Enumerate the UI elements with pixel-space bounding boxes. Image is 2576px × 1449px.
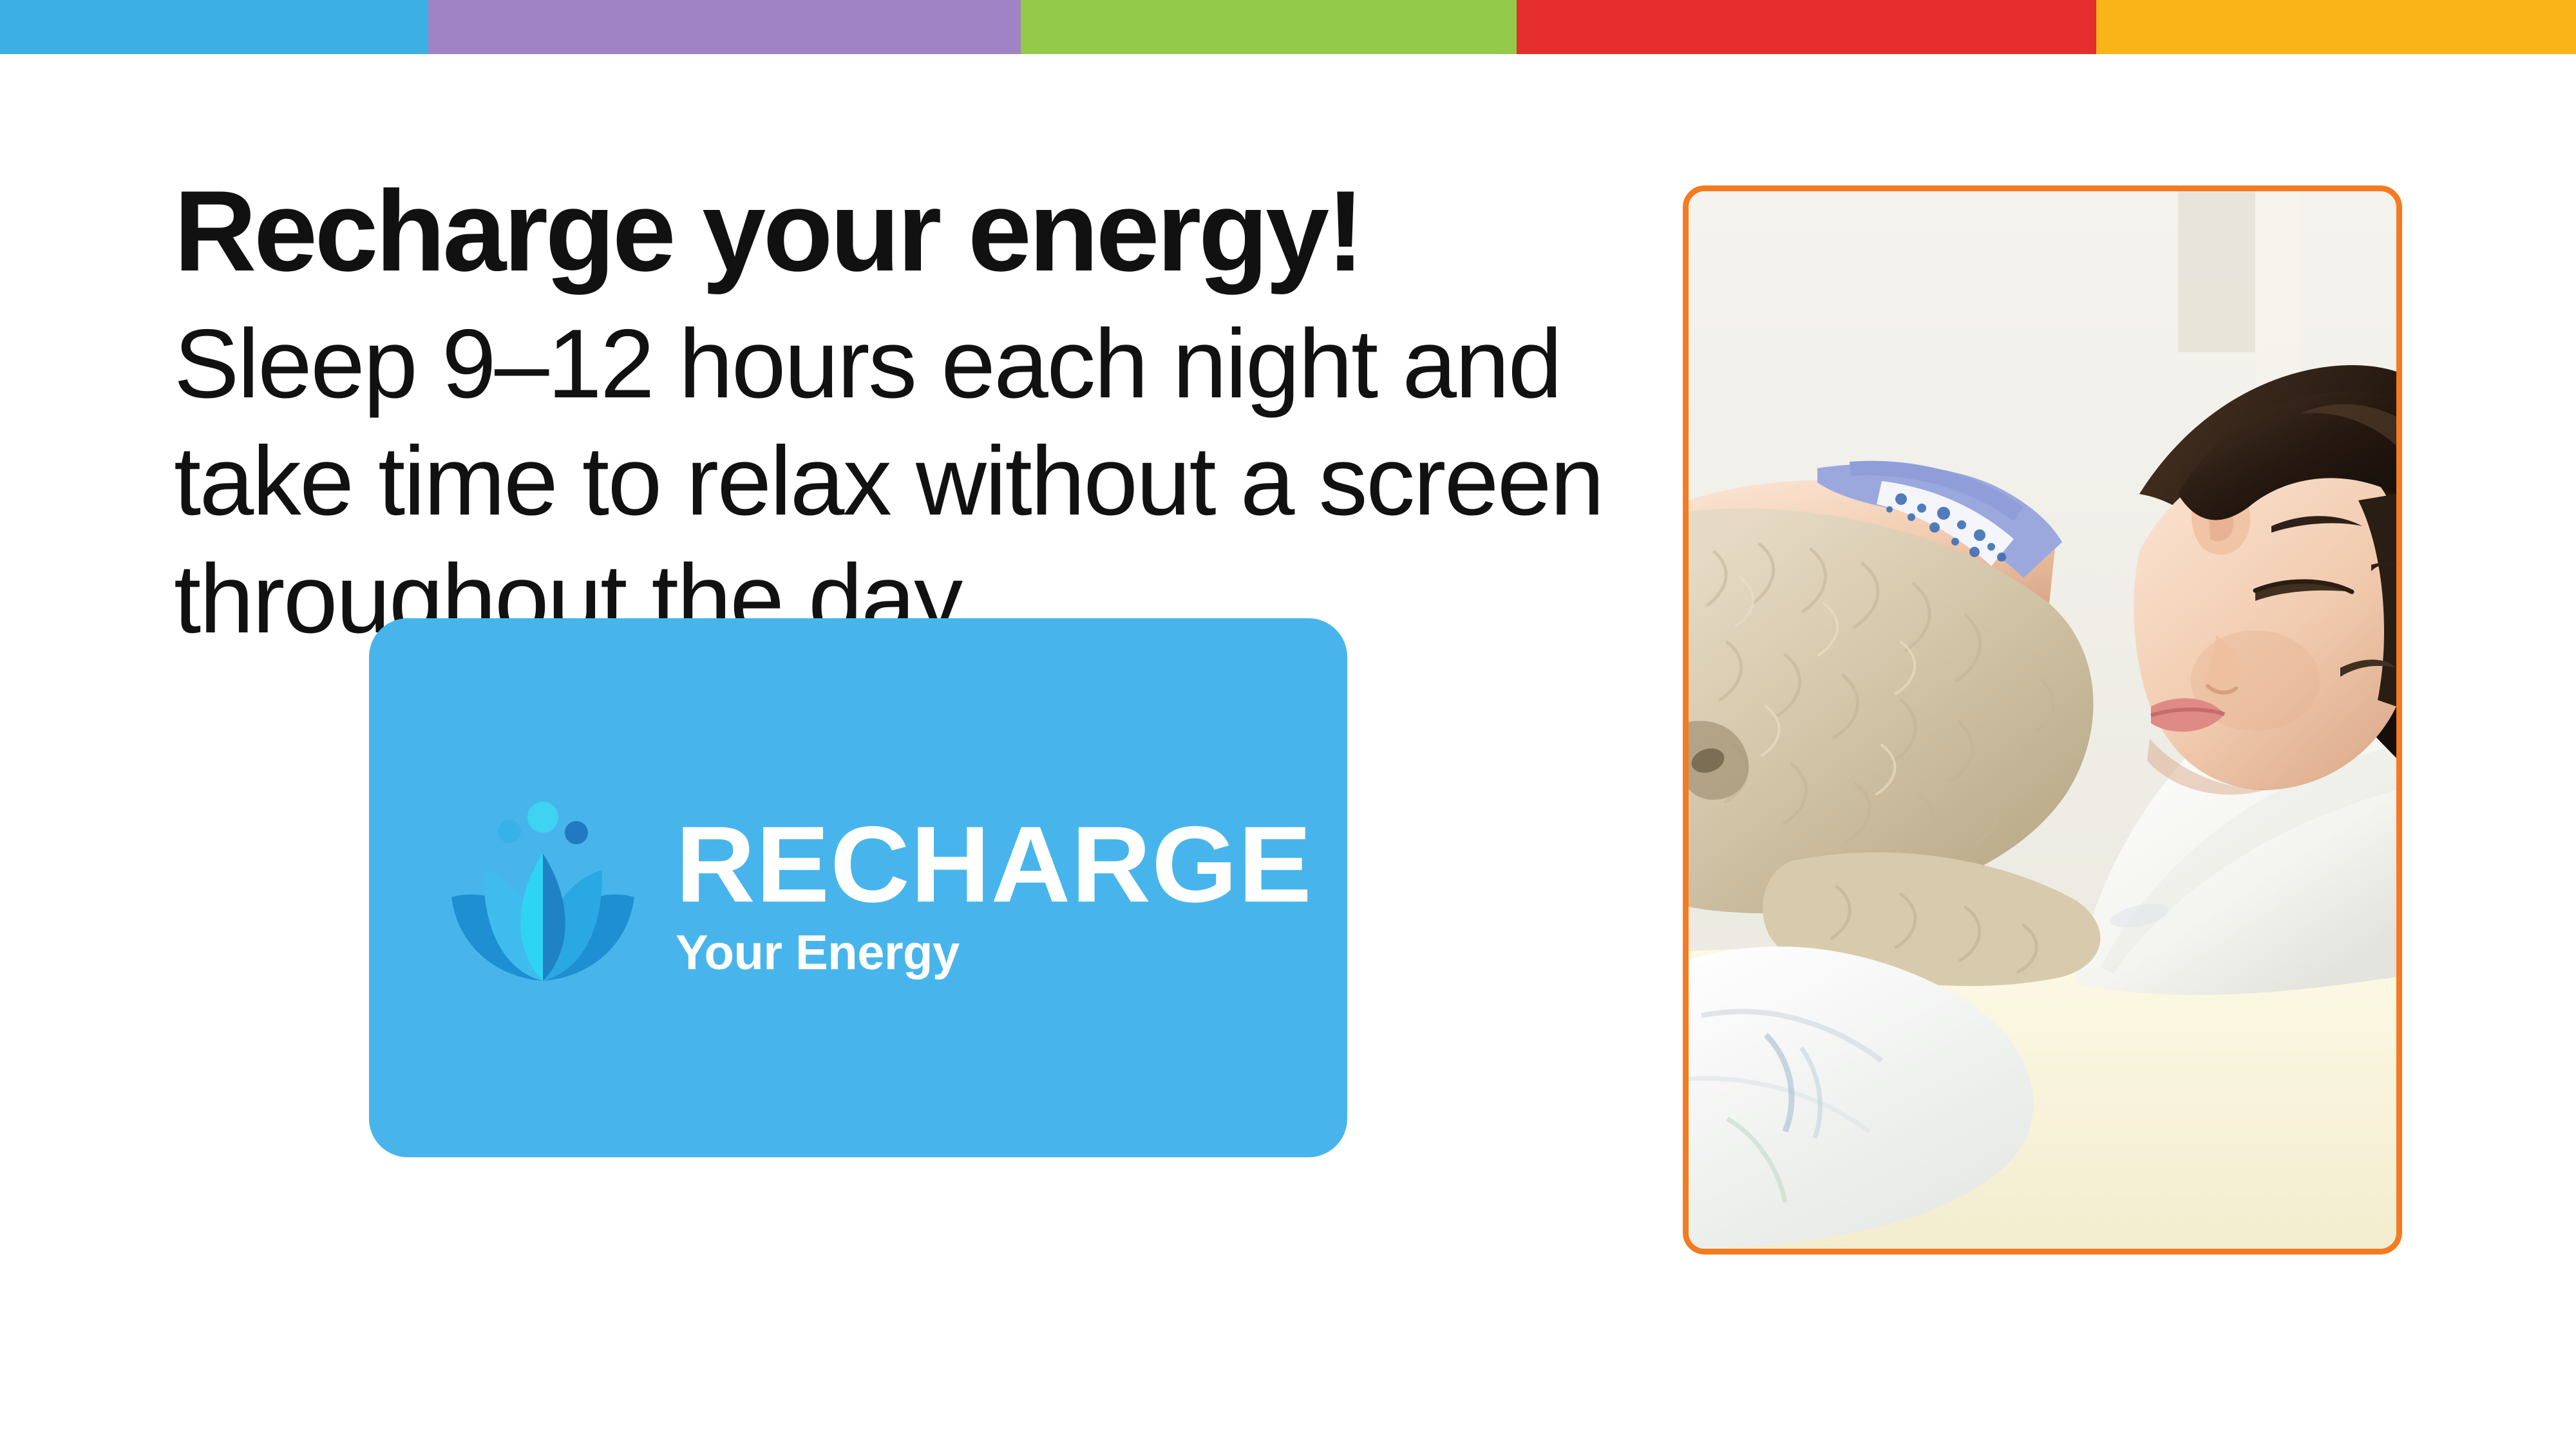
band-blue xyxy=(0,0,428,54)
page-title: Recharge your energy! xyxy=(174,174,1539,289)
body-line-2: take time to relax without a screen xyxy=(174,422,1507,540)
body-copy: Sleep 9–12 hours each night and take tim… xyxy=(174,305,1507,658)
band-yellow xyxy=(2096,0,2576,54)
band-green xyxy=(1021,0,1517,54)
recharge-logo-card: RECHARGE Your Energy xyxy=(369,618,1347,1157)
brand-tagline: Your Energy xyxy=(676,929,960,978)
brand-wordmark: RECHARGE xyxy=(676,815,1312,914)
sleeping-child-photo xyxy=(1683,185,2402,1255)
top-color-bar xyxy=(0,0,2576,54)
photo-illustration xyxy=(1689,191,2396,1249)
band-purple xyxy=(428,0,1021,54)
text-column: Recharge your energy! Sleep 9–12 hours e… xyxy=(174,174,1539,658)
body-line-1: Sleep 9–12 hours each night and xyxy=(174,305,1507,422)
wordmark-block: RECHARGE Your Energy xyxy=(676,815,1300,978)
lotus-flower-icon xyxy=(440,794,646,987)
band-red xyxy=(1517,0,2096,54)
